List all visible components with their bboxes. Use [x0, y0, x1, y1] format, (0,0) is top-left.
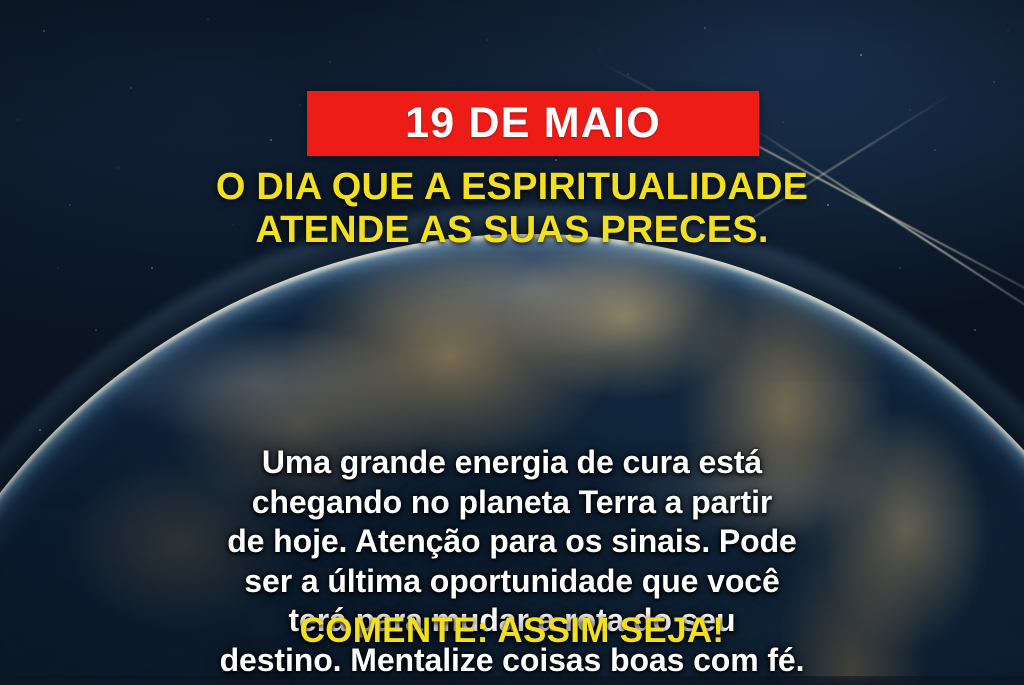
body-line-1: Uma grande energia de cura está	[0, 443, 1024, 483]
headline-line-1: O DIA QUE A ESPIRITUALIDADE	[0, 166, 1024, 209]
body-line-4: ser a última oportunidade que você	[0, 562, 1024, 602]
call-to-action-text: COMENTE: ASSIM SEJA!	[0, 613, 1024, 648]
headline-line-2: ATENDE AS SUAS PRECES.	[0, 209, 1024, 252]
body-line-2: chegando no planeta Terra a partir	[0, 483, 1024, 523]
poster-content: 19 DE MAIO O DIA QUE A ESPIRITUALIDADE A…	[0, 0, 1024, 685]
poster-canvas: 19 DE MAIO O DIA QUE A ESPIRITUALIDADE A…	[0, 0, 1024, 685]
date-banner: 19 DE MAIO	[307, 91, 759, 156]
body-line-3: de hoje. Atenção para os sinais. Pode	[0, 522, 1024, 562]
headline: O DIA QUE A ESPIRITUALIDADE ATENDE AS SU…	[0, 166, 1024, 251]
date-banner-label: 19 DE MAIO	[405, 102, 661, 145]
